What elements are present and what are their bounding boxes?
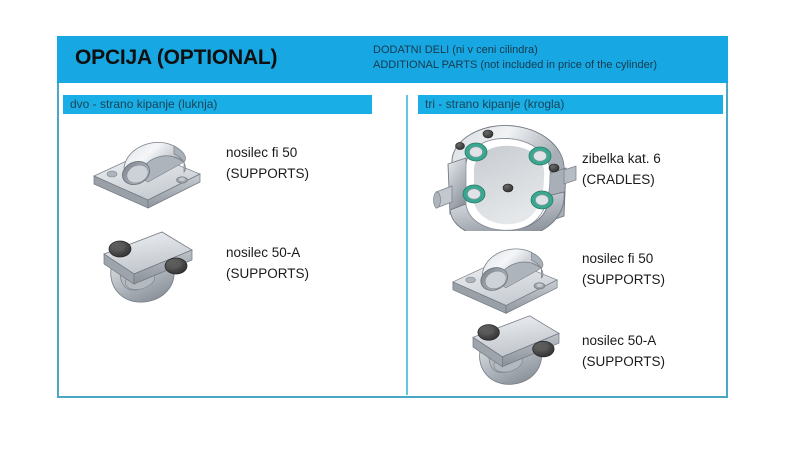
header-band: OPCIJA (OPTIONAL) DODATNI DELI (ni v cen… bbox=[57, 36, 728, 83]
page-root: OPCIJA (OPTIONAL) DODATNI DELI (ni v cen… bbox=[0, 0, 800, 450]
part-name: nosilec fi 50 bbox=[226, 142, 309, 163]
part-subtitle: (SUPPORTS) bbox=[226, 263, 309, 284]
column-divider bbox=[406, 95, 408, 395]
header-note: DODATNI DELI (ni v ceni cilindra) ADDITI… bbox=[373, 43, 723, 73]
part-label: zibelka kat. 6 (CRADLES) bbox=[582, 148, 661, 190]
part-label: nosilec fi 50 (SUPPORTS) bbox=[226, 142, 309, 184]
part-name: zibelka kat. 6 bbox=[582, 148, 661, 169]
part-label: nosilec fi 50 (SUPPORTS) bbox=[582, 248, 665, 290]
part-label: nosilec 50-A (SUPPORTS) bbox=[582, 330, 665, 372]
section-header-left: dvo - strano kipanje (luknja) bbox=[63, 95, 372, 114]
section-header-right: tri - strano kipanje (krogla) bbox=[418, 95, 723, 114]
part-subtitle: (SUPPORTS) bbox=[582, 351, 665, 372]
part-subtitle: (CRADLES) bbox=[582, 169, 661, 190]
pillow-block-illustration bbox=[88, 128, 208, 212]
split-clamp-illustration bbox=[88, 224, 208, 312]
page-title: OPCIJA (OPTIONAL) bbox=[75, 46, 277, 70]
part-subtitle: (SUPPORTS) bbox=[582, 269, 665, 290]
split-clamp-illustration bbox=[457, 308, 575, 394]
section-header-left-label: dvo - strano kipanje (luknja) bbox=[70, 97, 217, 111]
part-label: nosilec 50-A (SUPPORTS) bbox=[226, 242, 309, 284]
pillow-block-illustration bbox=[447, 234, 565, 318]
cradle-ring-illustration bbox=[430, 116, 578, 231]
part-name: nosilec 50-A bbox=[226, 242, 309, 263]
header-note-line-en: ADDITIONAL PARTS (not included in price … bbox=[373, 58, 723, 73]
part-name: nosilec 50-A bbox=[582, 330, 665, 351]
section-header-right-label: tri - strano kipanje (krogla) bbox=[425, 97, 564, 111]
part-name: nosilec fi 50 bbox=[582, 248, 665, 269]
header-note-line-si: DODATNI DELI (ni v ceni cilindra) bbox=[373, 43, 723, 58]
part-subtitle: (SUPPORTS) bbox=[226, 163, 309, 184]
